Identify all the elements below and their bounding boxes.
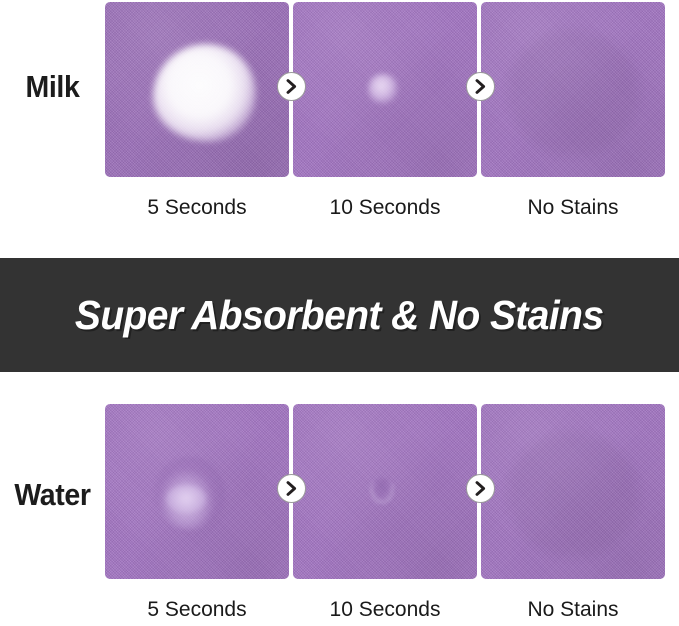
fabric-swatch-milk-5s [105,2,289,177]
caption-water-5s: 5 Seconds [105,598,289,622]
headline-text: Super Absorbent & No Stains [75,292,604,339]
product-feature-infographic: Milk 5 Seconds 10 Seconds No [0,0,679,626]
row-label-milk: Milk [4,69,101,105]
fabric-swatch-water-5s [105,404,289,579]
headline-banner: Super Absorbent & No Stains [0,258,679,372]
fabric-swatch-strip-milk [105,2,665,177]
stain-water-small [370,478,394,504]
fabric-swatch-water-clean [481,404,665,579]
fabric-swatch-milk-clean [481,2,665,177]
chevron-right-icon [277,72,306,101]
caption-water-10s: 10 Seconds [293,598,477,622]
caption-milk-10s: 10 Seconds [293,196,477,220]
fabric-swatch-strip-water [105,404,665,579]
chevron-right-icon [466,474,495,503]
stain-water-large [155,457,225,531]
fabric-swatch-water-10s [293,404,477,579]
stain-milk-halo [507,30,639,156]
caption-water-clean: No Stains [481,598,665,622]
caption-milk-clean: No Stains [481,196,665,220]
stain-water-large-highlight [166,485,206,513]
caption-milk-5s: 5 Seconds [105,196,289,220]
comparison-section-water: Water 5 Seconds 10 Seconds [0,372,679,626]
chevron-right-icon [466,72,495,101]
stain-milk-large [153,44,256,142]
stain-water-halo [507,432,639,558]
chevron-right-icon [277,474,306,503]
caption-row-water: 5 Seconds 10 Seconds No Stains [105,598,665,622]
fabric-swatch-milk-10s [293,2,477,177]
comparison-section-milk: Milk 5 Seconds 10 Seconds No [0,0,679,258]
stain-milk-small [368,74,397,104]
caption-row-milk: 5 Seconds 10 Seconds No Stains [105,196,665,220]
row-label-water: Water [4,477,101,513]
